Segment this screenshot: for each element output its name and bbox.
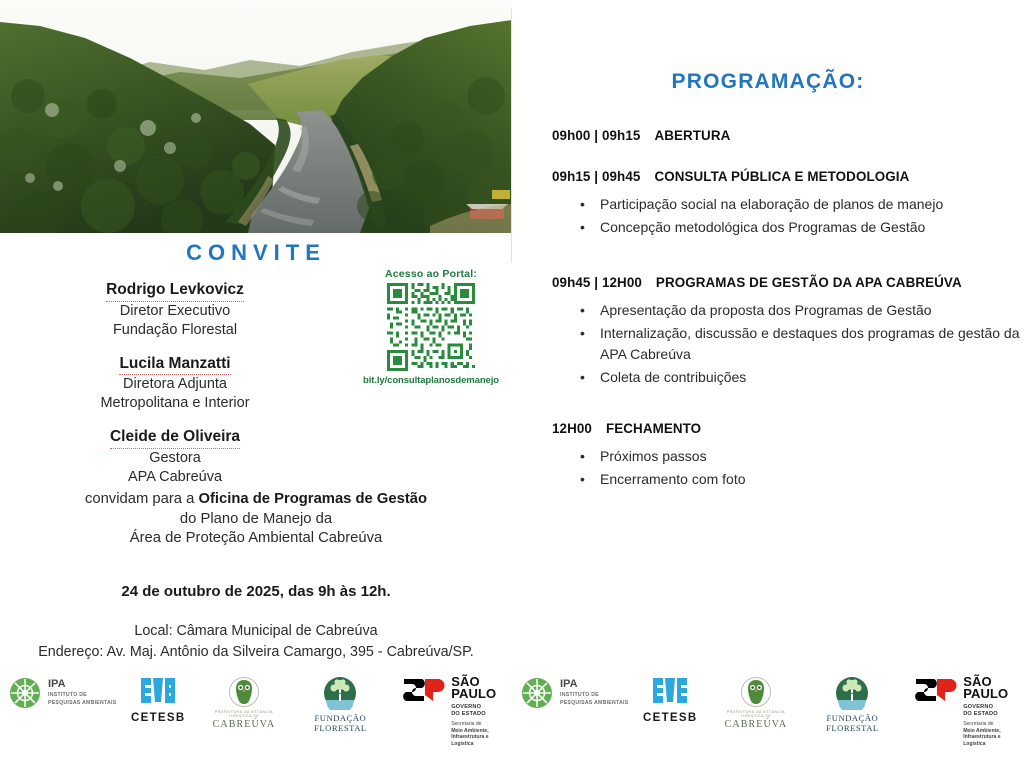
logo-sao-paulo: SÃO PAULO GOVERNO DO ESTADO Secretaria d… (914, 676, 1020, 748)
cabreuva-label: CABREÚVA (213, 719, 276, 730)
sao-paulo-text: SÃO PAULO GOVERNO DO ESTADO Secretaria d… (451, 676, 496, 748)
logo-fundacao-florestal: FUNDAÇÃO FLORESTAL (293, 676, 389, 733)
people-list: Rodrigo Levkovicz Diretor Executivo Fund… (0, 280, 350, 501)
logo-row-left: IPA INSTITUTO DEPESQUISAS AMBIENTAIS CET… (8, 676, 508, 738)
person-role: Diretor Executivo (0, 302, 350, 321)
sp-gov-line1: GOVERNO (963, 704, 1008, 711)
cabreuva-supertitle: PREFEITURA DA ESTÂNCIA TURÍSTICA DE (719, 710, 792, 718)
fundacao-florestal-label: FUNDAÇÃO FLORESTAL (805, 713, 901, 733)
sp-sec-line3: Infraestrutura e (451, 734, 496, 741)
programacao-time: 09h45 | 12H00 (552, 275, 642, 290)
logo-row-right: IPA INSTITUTO DEPESQUISAS AMBIENTAIS CET… (520, 676, 1020, 738)
event-date: 24 de outubro de 2025, das 9h às 12h. (0, 583, 512, 600)
bullet-icon: • (580, 469, 585, 490)
owl-icon (226, 676, 262, 710)
qr-block[interactable]: Acesso ao Portal: (356, 268, 506, 386)
list-item: •Próximos passos (552, 446, 1020, 467)
event-location: Local: Câmara Municipal de Cabreúva Ende… (0, 621, 512, 662)
logo-ipa: IPA INSTITUTO DEPESQUISAS AMBIENTAIS (8, 676, 117, 710)
programacao-name: FECHAMENTO (606, 421, 701, 436)
bullet-icon: • (580, 446, 585, 467)
bullet-icon: • (580, 194, 585, 215)
owl-icon (738, 676, 774, 710)
list-item-label: Apresentação da proposta dos Programas d… (600, 302, 932, 318)
programacao-items: •Apresentação da proposta dos Programas … (552, 300, 1020, 389)
logo-cabreuva: PREFEITURA DA ESTÂNCIA TURÍSTICA DE CABR… (719, 676, 792, 730)
logo-sao-paulo: SÃO PAULO GOVERNO DO ESTADO Secretaria d… (402, 676, 508, 748)
left-column: CONVITE Rodrigo Levkovicz Diretor Execut… (0, 0, 512, 768)
cetesb-label: CETESB (131, 712, 185, 724)
sp-gov-line2: DO ESTADO (963, 711, 1008, 718)
sp-name-line2: PAULO (963, 688, 1008, 700)
bullet-icon: • (580, 367, 585, 388)
invitation-line-1: convidam para a Oficina de Programas de … (0, 490, 512, 510)
sp-sec-line1: Secretaria de (963, 721, 1008, 728)
programacao-list: 09h00 | 09h15ABERTURA 09h15 | 09h45CONSU… (552, 128, 1020, 492)
programacao-name: ABERTURA (654, 128, 730, 143)
qr-code-icon[interactable] (387, 283, 475, 371)
list-item: •Apresentação da proposta dos Programas … (552, 300, 1020, 321)
logo-fundacao-florestal: FUNDAÇÃO FLORESTAL (805, 676, 901, 733)
programacao-block: 09h45 | 12H00PROGRAMAS DE GESTÃO DA APA … (552, 275, 1020, 389)
ipa-subtitle: INSTITUTO DEPESQUISAS AMBIENTAIS (560, 692, 628, 706)
sp-sec-line1: Secretaria de (451, 721, 496, 728)
programacao-heading: 09h45 | 12H00PROGRAMAS DE GESTÃO DA APA … (552, 275, 1020, 290)
sp-gov-line2: DO ESTADO (451, 711, 496, 718)
logo-cabreuva: PREFEITURA DA ESTÂNCIA TURÍSTICA DE CABR… (207, 676, 280, 730)
invitation-prefix: convidam para a (85, 491, 199, 507)
event-venue: Local: Câmara Municipal de Cabreúva (0, 621, 512, 642)
programacao-block: 09h15 | 09h45CONSULTA PÚBLICA E METODOLO… (552, 169, 1020, 239)
cabreuva-supertitle: PREFEITURA DA ESTÂNCIA TURÍSTICA DE (207, 710, 280, 718)
person-entry: Rodrigo Levkovicz Diretor Executivo Fund… (0, 280, 350, 340)
list-item: •Concepção metodológica dos Programas de… (552, 217, 1020, 238)
sp-sec-line4: Logística (963, 741, 1008, 748)
list-item: •Coleta de contribuições (552, 367, 1020, 388)
ipa-abbr: IPA (560, 679, 628, 690)
programacao-block: 09h00 | 09h15ABERTURA (552, 128, 1020, 143)
list-item: •Internalização, discussão e destaques d… (552, 323, 1020, 366)
list-item-label: Encerramento com foto (600, 471, 746, 487)
invitation-event-name: Oficina de Programas de Gestão (198, 491, 427, 507)
logo-ipa: IPA INSTITUTO DEPESQUISAS AMBIENTAIS (520, 676, 629, 710)
cabreuva-label: CABREÚVA (725, 719, 788, 730)
sp-gov-line1: GOVERNO (451, 704, 496, 711)
cetesb-label: CETESB (643, 712, 697, 724)
person-name: Rodrigo Levkovicz (106, 280, 244, 302)
cetesb-mark-icon (138, 676, 178, 709)
invitation-line-2: do Plano de Manejo da (0, 510, 512, 530)
logo-cetesb: CETESB (635, 676, 705, 724)
programacao-time: 09h15 | 09h45 (552, 169, 640, 184)
programacao-items: •Participação social na elaboração de pl… (552, 194, 1020, 239)
programacao-heading: 09h15 | 09h45CONSULTA PÚBLICA E METODOLO… (552, 169, 1020, 184)
programacao-title: PROGRAMAÇÃO: (512, 70, 1024, 94)
tree-icon (323, 676, 357, 710)
qr-label: Acesso ao Portal: (356, 268, 506, 280)
programacao-name: CONSULTA PÚBLICA E METODOLOGIA (654, 169, 909, 184)
ipa-abbr: IPA (48, 679, 116, 690)
fundacao-florestal-label: FUNDAÇÃO FLORESTAL (293, 713, 389, 733)
cetesb-mark-icon (650, 676, 690, 709)
person-org: Fundação Florestal (0, 321, 350, 340)
invitation-line-3: Área de Proteção Ambiental Cabreúva (0, 529, 512, 549)
bullet-icon: • (580, 217, 585, 238)
invitation-page: CONVITE Rodrigo Levkovicz Diretor Execut… (0, 0, 1024, 768)
list-item-label: Participação social na elaboração de pla… (600, 196, 943, 212)
programacao-heading: 12H00FECHAMENTO (552, 421, 1020, 436)
ipa-subtitle: INSTITUTO DEPESQUISAS AMBIENTAIS (48, 692, 116, 706)
person-org: Metropolitana e Interior (0, 394, 350, 413)
ipa-leaf-icon (520, 676, 554, 710)
list-item-label: Internalização, discussão e destaques do… (600, 325, 1020, 362)
right-column: PROGRAMAÇÃO: 09h00 | 09h15ABERTURA 09h15… (512, 0, 1024, 768)
list-item-label: Próximos passos (600, 448, 707, 464)
ipa-leaf-icon (8, 676, 42, 710)
river-valley-photo (0, 0, 512, 233)
list-item: •Participação social na elaboração de pl… (552, 194, 1020, 215)
logo-cetesb: CETESB (123, 676, 193, 724)
programacao-time: 09h00 | 09h15 (552, 128, 640, 143)
programacao-block: 12H00FECHAMENTO •Próximos passos •Encerr… (552, 421, 1020, 491)
ipa-text: IPA INSTITUTO DEPESQUISAS AMBIENTAIS (48, 679, 116, 706)
list-item-label: Concepção metodológica dos Programas de … (600, 219, 925, 235)
programacao-time: 12H00 (552, 421, 592, 436)
person-entry: Lucila Manzatti Diretora Adjunta Metropo… (0, 354, 350, 414)
sp-sec-line4: Logística (451, 741, 496, 748)
bullet-icon: • (580, 300, 585, 321)
programacao-heading: 09h00 | 09h15ABERTURA (552, 128, 1020, 143)
person-org: APA Cabreúva (0, 468, 350, 487)
programacao-items: •Próximos passos •Encerramento com foto (552, 446, 1020, 491)
sp-sec-line3: Infraestrutura e (963, 734, 1008, 741)
sp-mark-icon (914, 676, 958, 704)
person-role: Gestora (0, 449, 350, 468)
person-entry: Cleide de Oliveira Gestora APA Cabreúva (0, 427, 350, 487)
programacao-name: PROGRAMAS DE GESTÃO DA APA CABREÚVA (656, 275, 962, 290)
list-item: •Encerramento com foto (552, 469, 1020, 490)
sp-name-line2: PAULO (451, 688, 496, 700)
sp-sec-line2: Meio Ambiente, (451, 728, 496, 735)
person-name: Lucila Manzatti (119, 354, 230, 376)
sao-paulo-text: SÃO PAULO GOVERNO DO ESTADO Secretaria d… (963, 676, 1008, 748)
page-title: CONVITE (0, 240, 512, 266)
ipa-text: IPA INSTITUTO DEPESQUISAS AMBIENTAIS (560, 679, 628, 706)
sp-mark-icon (402, 676, 446, 704)
list-item-label: Coleta de contribuições (600, 369, 746, 385)
bullet-icon: • (580, 323, 585, 344)
event-address: Endereço: Av. Maj. Antônio da Silveira C… (0, 642, 512, 663)
invitation-body: convidam para a Oficina de Programas de … (0, 490, 512, 549)
person-name: Cleide de Oliveira (110, 427, 240, 449)
person-role: Diretora Adjunta (0, 375, 350, 394)
qr-url-label[interactable]: bit.ly/consultaplanosdemanejo (356, 375, 506, 386)
sp-sec-line2: Meio Ambiente, (963, 728, 1008, 735)
tree-icon (835, 676, 869, 710)
